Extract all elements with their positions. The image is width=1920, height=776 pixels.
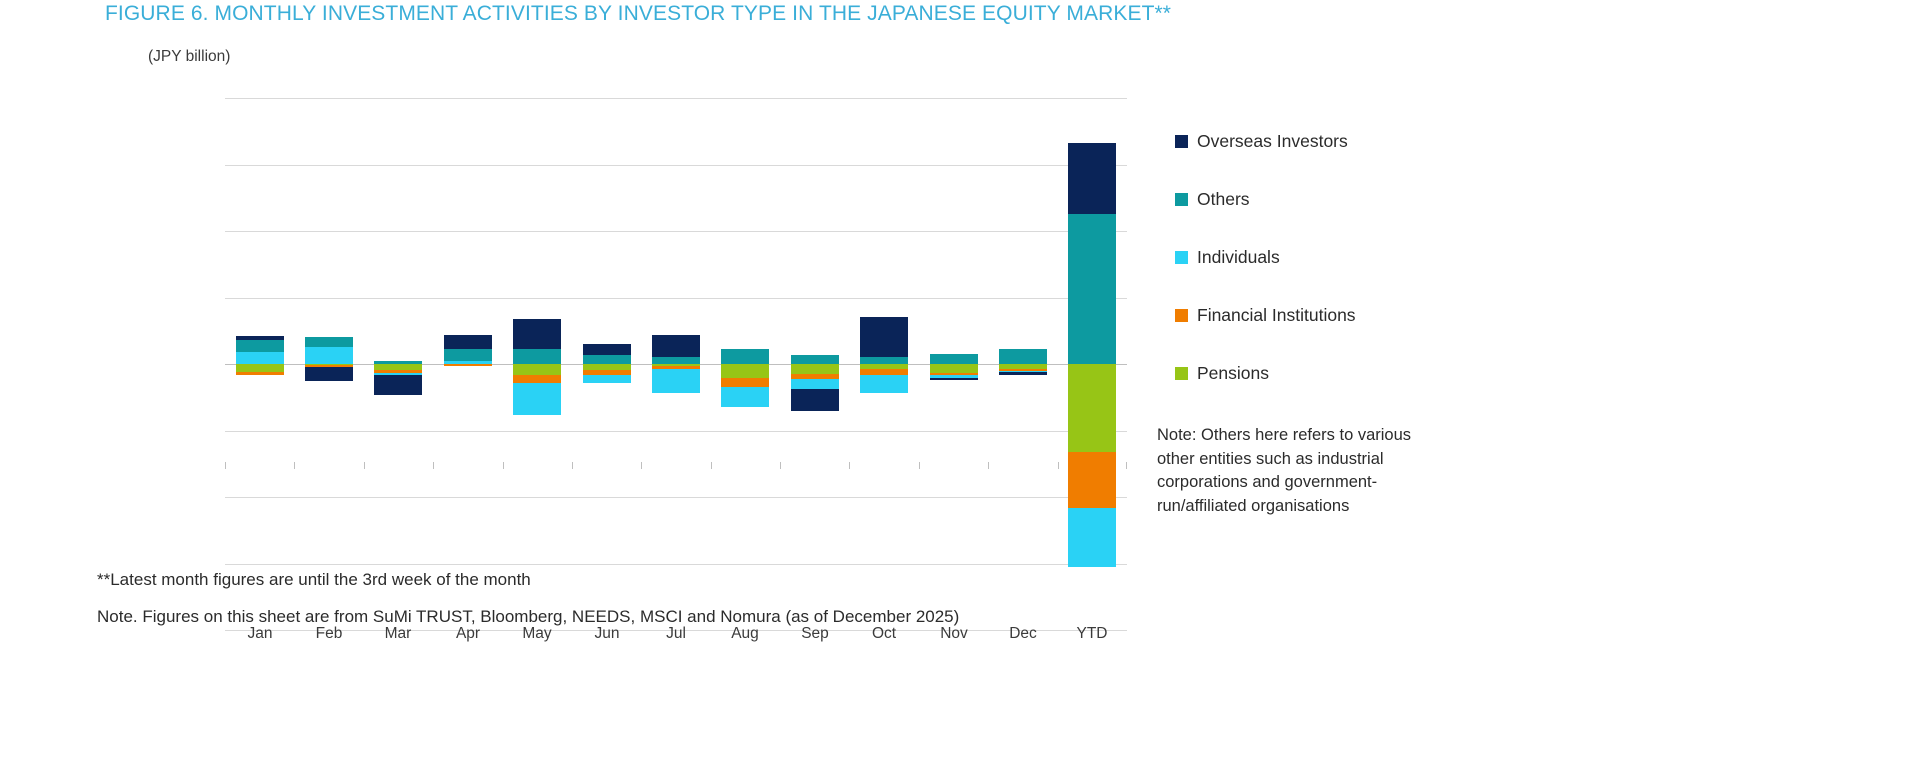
legend-note: Note: Others here refers to various othe… (1157, 424, 1425, 518)
bar-segment (513, 319, 561, 349)
x-axis-tick-mark (572, 462, 573, 469)
legend-item-label: Pensions (1197, 363, 1269, 384)
bar-segment (652, 369, 700, 393)
legend-item[interactable]: Financial Institutions (1175, 305, 1595, 326)
bar-group[interactable] (444, 98, 492, 630)
bar-segment (583, 355, 631, 364)
bar-group[interactable] (1068, 98, 1116, 630)
bar-segment (305, 367, 353, 381)
x-axis-tick-mark (849, 462, 850, 469)
bar-segment (513, 349, 561, 364)
bar-segment (999, 349, 1047, 364)
y-axis-unit-label: (JPY billion) (148, 48, 230, 66)
bar-segment (374, 375, 422, 394)
x-axis-tick-mark (364, 462, 365, 469)
bar-segment (513, 375, 561, 383)
legend-swatch-icon (1175, 367, 1188, 380)
x-axis-tick-mark (225, 462, 226, 469)
legend-item-label: Individuals (1197, 247, 1280, 268)
bar-group[interactable] (999, 98, 1047, 630)
bar-segment (791, 355, 839, 364)
bar-segment (652, 357, 700, 364)
legend-item[interactable]: Pensions (1175, 363, 1595, 384)
bar-segment (860, 357, 908, 364)
footnote-text: **Latest month figures are until the 3rd… (97, 570, 1297, 590)
legend-swatch-icon (1175, 309, 1188, 322)
x-axis-tick-mark (711, 462, 712, 469)
legend-item[interactable]: Overseas Investors (1175, 131, 1595, 152)
bar-segment (1068, 364, 1116, 452)
figure-container: FIGURE 6. MONTHLY INVESTMENT ACTIVITIES … (0, 0, 1920, 776)
bar-segment (236, 372, 284, 375)
bar-segment (583, 344, 631, 355)
bar-segment (583, 375, 631, 383)
bar-group[interactable] (791, 98, 839, 630)
plot-area: 20,00015,00010,0005,0000-5,000-10,000-15… (225, 98, 1127, 630)
bar-group[interactable] (860, 98, 908, 630)
footnote-text: Note. Figures on this sheet are from SuM… (97, 607, 1297, 627)
x-axis-tick-mark (1058, 462, 1059, 469)
bar-segment (305, 347, 353, 364)
bar-segment (791, 364, 839, 374)
bar-segment (930, 378, 978, 380)
bar-group[interactable] (236, 98, 284, 630)
bar-group[interactable] (721, 98, 769, 630)
bar-segment (721, 378, 769, 387)
legend-item-label: Others (1197, 189, 1250, 210)
legend-item[interactable]: Individuals (1175, 247, 1595, 268)
legend-item-label: Overseas Investors (1197, 131, 1348, 152)
legend: Overseas InvestorsOthersIndividualsFinan… (1175, 131, 1595, 421)
bar-segment (444, 364, 492, 365)
legend-item[interactable]: Others (1175, 189, 1595, 210)
bar-segment (236, 364, 284, 372)
bar-segment (444, 335, 492, 348)
bar-segment (721, 387, 769, 408)
bar-segment (513, 383, 561, 415)
x-axis-tick-mark (1126, 462, 1127, 469)
chart-title: FIGURE 6. MONTHLY INVESTMENT ACTIVITIES … (105, 2, 1405, 26)
x-axis-tick-mark (988, 462, 989, 469)
x-axis-tick-mark (294, 462, 295, 469)
bar-segment (652, 335, 700, 358)
bar-group[interactable] (652, 98, 700, 630)
bar-segment (1068, 143, 1116, 214)
bar-segment (1068, 508, 1116, 568)
x-axis-tick-mark (919, 462, 920, 469)
bar-segment (236, 336, 284, 340)
bar-segment (721, 349, 769, 364)
x-axis-tick-mark (433, 462, 434, 469)
bar-segment (930, 364, 978, 373)
legend-item-label: Financial Institutions (1197, 305, 1356, 326)
bar-segment (721, 364, 769, 378)
bar-segment (236, 352, 284, 364)
x-axis-tick-mark (780, 462, 781, 469)
bar-segment (930, 354, 978, 364)
legend-swatch-icon (1175, 193, 1188, 206)
bar-segment (1068, 214, 1116, 364)
bar-group[interactable] (583, 98, 631, 630)
bar-segment (860, 369, 908, 376)
legend-swatch-icon (1175, 135, 1188, 148)
bar-segment (513, 364, 561, 375)
bar-segment (236, 340, 284, 352)
bar-segment (444, 349, 492, 362)
bar-group[interactable] (930, 98, 978, 630)
bar-segment (791, 379, 839, 389)
bar-group[interactable] (374, 98, 422, 630)
bar-group[interactable] (305, 98, 353, 630)
x-axis-tick-mark (503, 462, 504, 469)
bar-segment (860, 375, 908, 392)
bar-group[interactable] (513, 98, 561, 630)
bar-segment (1068, 452, 1116, 507)
bar-segment (305, 337, 353, 346)
x-axis-tick-mark (641, 462, 642, 469)
bar-segment (860, 317, 908, 357)
bar-segment (791, 389, 839, 410)
footnotes: **Latest month figures are until the 3rd… (97, 570, 1297, 644)
bar-segment (999, 372, 1047, 375)
legend-swatch-icon (1175, 251, 1188, 264)
